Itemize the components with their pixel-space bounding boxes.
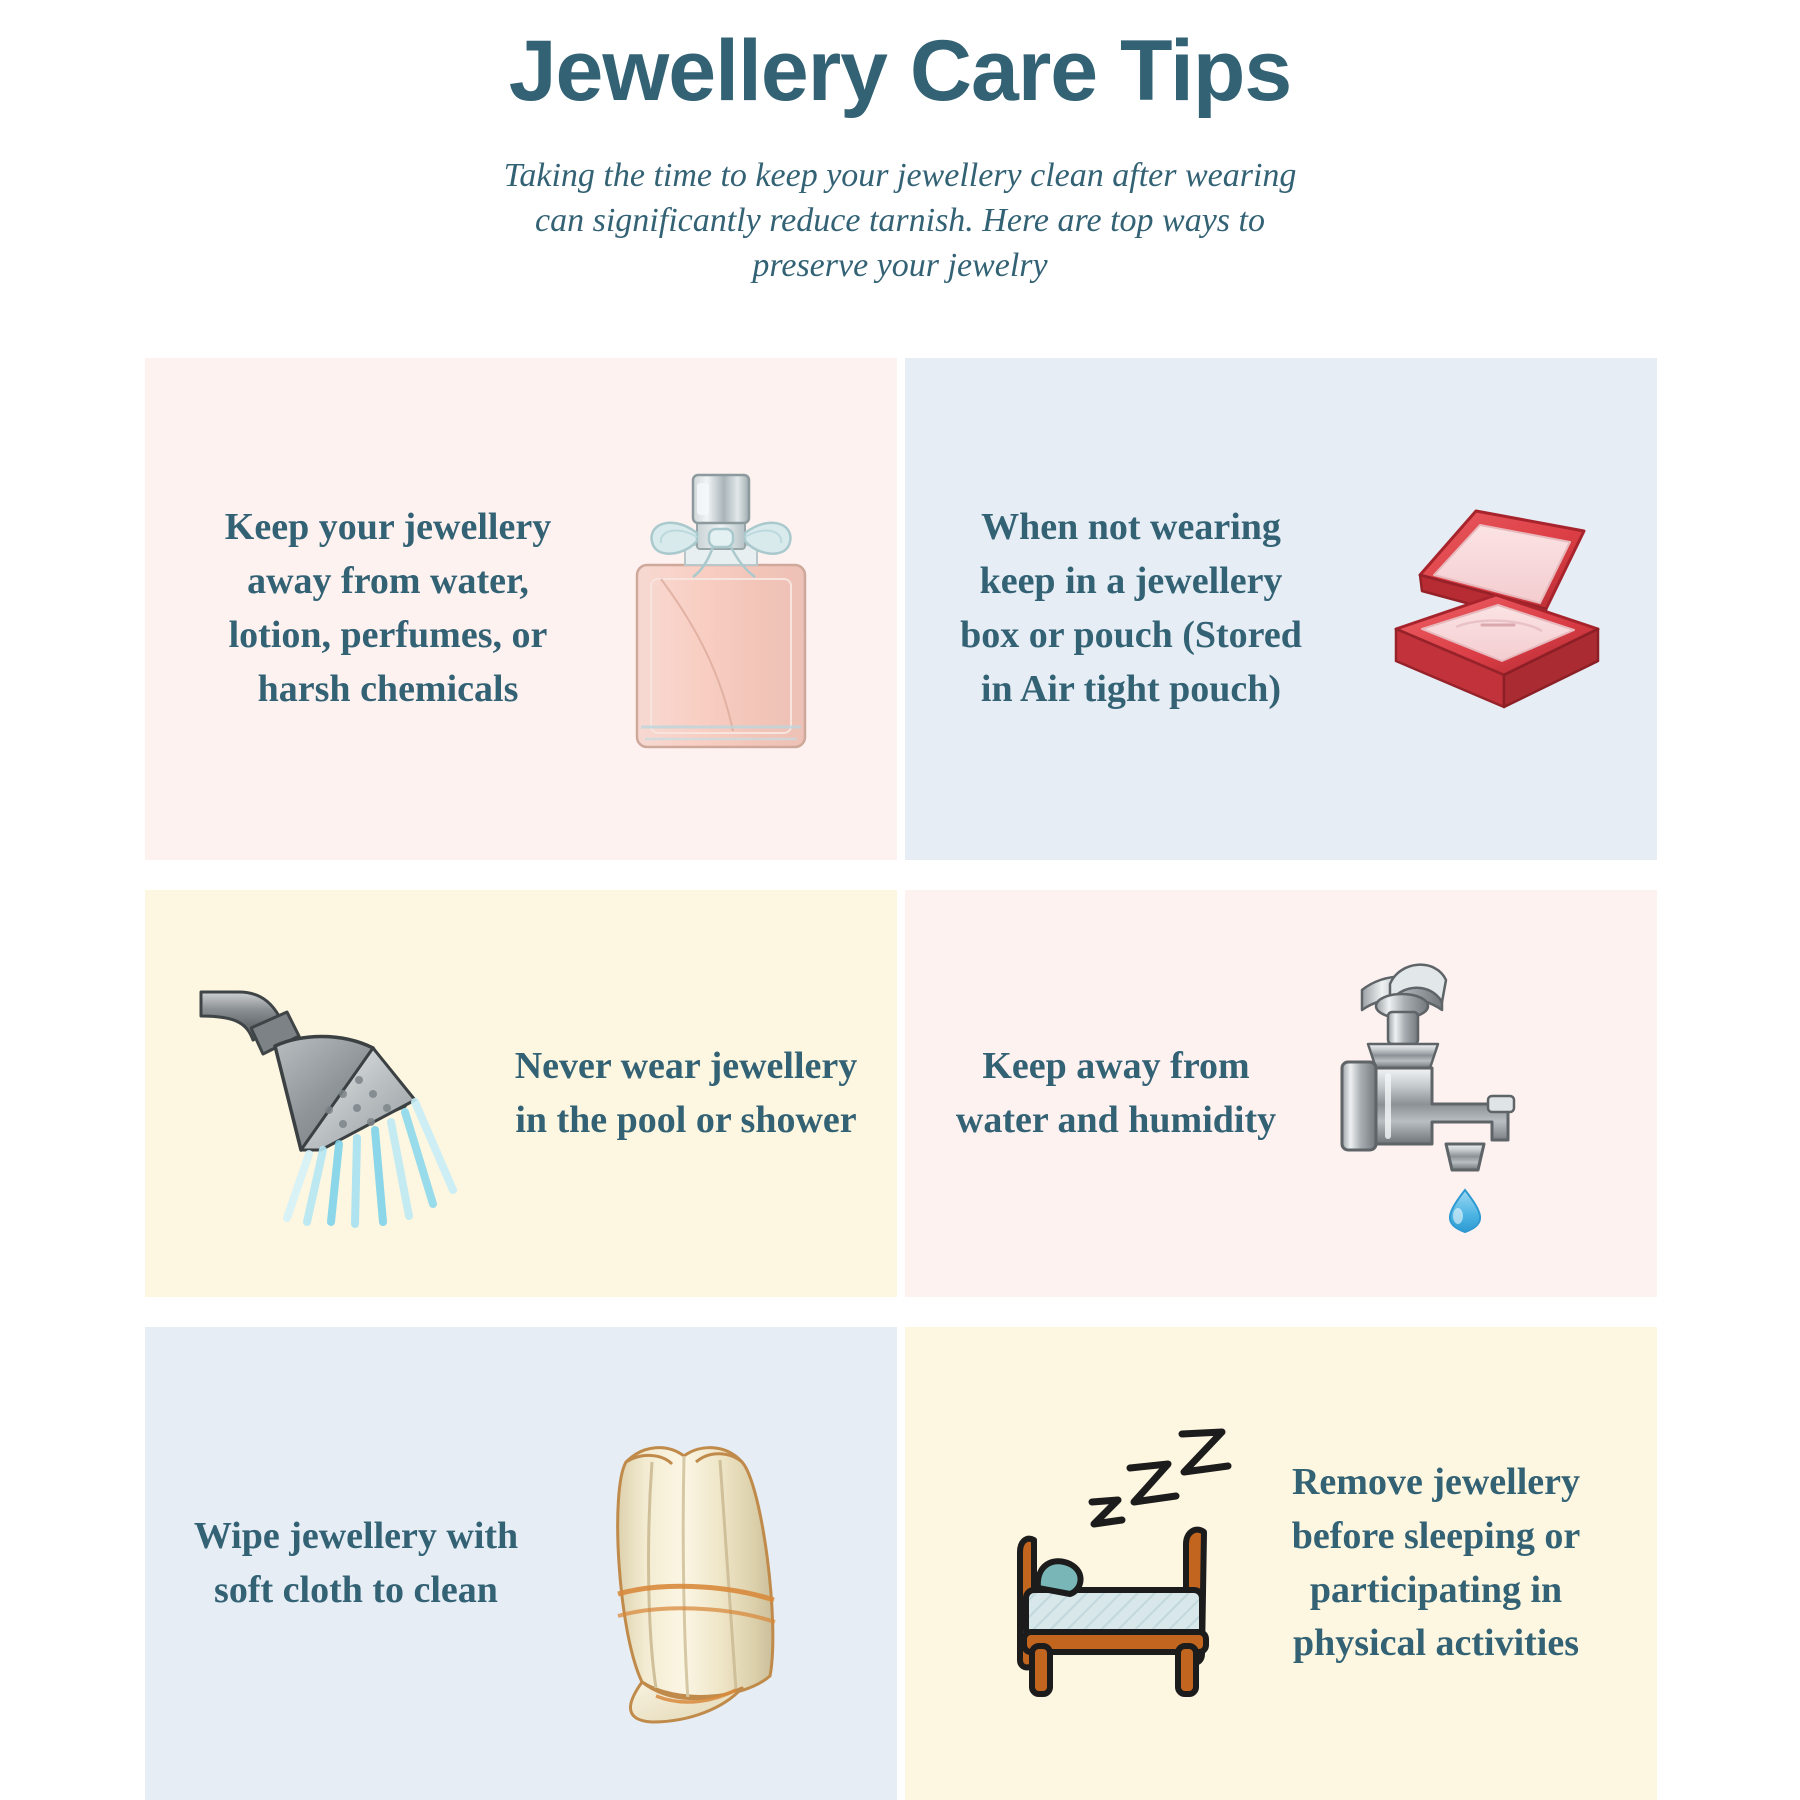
bed-sleeping-icon [951,1424,1281,1704]
tip-card-chemicals-text: Keep your jewellery away from water, lot… [171,501,571,717]
tip-card-chemicals: Keep your jewellery away from water, lot… [145,358,897,860]
tip-card-shower-text: Never wear jewellery in the pool or show… [506,1040,866,1148]
tip-card-wipe: Wipe jewellery with soft cloth to clean [145,1327,897,1800]
faucet-icon [1281,944,1611,1244]
perfume-bottle-icon [571,459,871,759]
tip-card-storage-text: When not wearing keep in a jewellery box… [926,501,1316,717]
tip-card-wipe-text: Wipe jewellery with soft cloth to clean [181,1510,531,1618]
cloth-icon [531,1404,861,1724]
infographic-page: Jewellery Care Tips Taking the time to k… [0,0,1800,1800]
tips-grid: Keep your jewellery away from water, lot… [145,358,1657,1800]
header: Jewellery Care Tips Taking the time to k… [0,0,1800,289]
page-title: Jewellery Care Tips [0,0,1800,114]
tip-card-shower: Never wear jewellery in the pool or show… [145,890,897,1297]
tip-card-sleeping-text: Remove jewellery before sleeping or part… [1281,1456,1611,1672]
tip-card-sleeping: Remove jewellery before sleeping or part… [905,1327,1657,1800]
page-subtitle: Taking the time to keep your jewellery c… [500,154,1300,289]
tip-card-humidity: Keep away from water and humidity [905,890,1657,1297]
tip-card-humidity-text: Keep away from water and humidity [951,1040,1281,1148]
shower-head-icon [176,954,506,1234]
tip-card-storage: When not wearing keep in a jewellery box… [905,358,1657,860]
ring-box-icon [1316,479,1636,739]
